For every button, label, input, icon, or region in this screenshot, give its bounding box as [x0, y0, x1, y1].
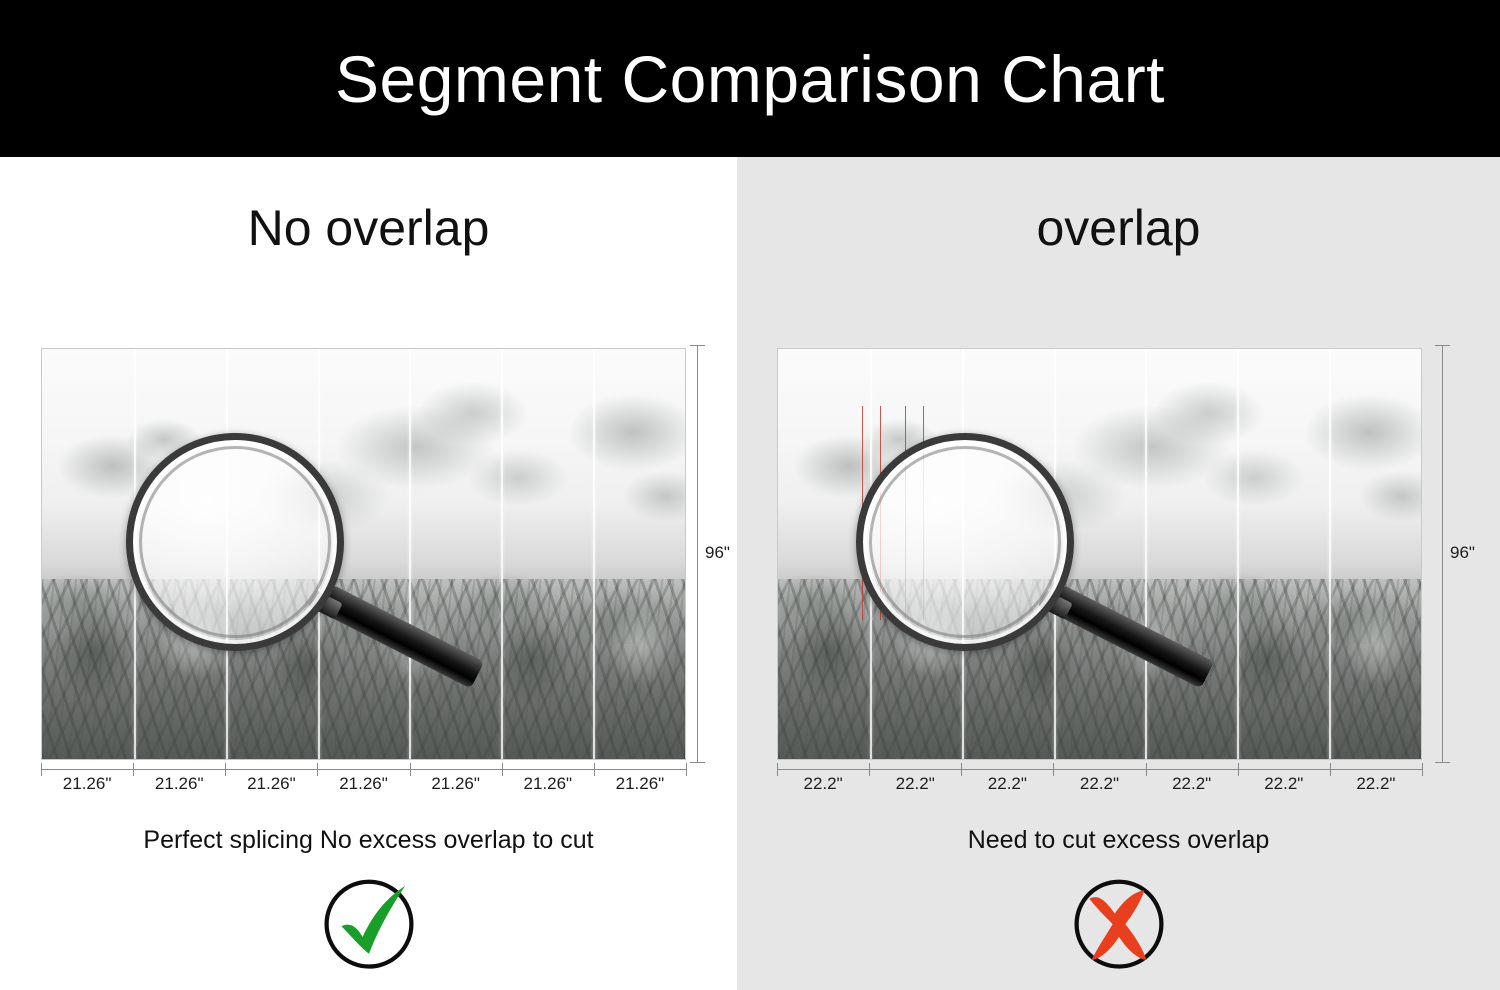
segment-label: 21.26" [410, 775, 502, 794]
seam-line [593, 349, 595, 759]
seam-line [501, 349, 503, 759]
segment-label: 21.26" [502, 775, 594, 794]
segment-label-row-right: 22.2" 22.2" 22.2" 22.2" 22.2" 22.2" 22.2… [777, 775, 1422, 794]
red-cross-icon [1066, 869, 1172, 975]
overlap-marker [862, 406, 863, 619]
panel-no-overlap: No overlap [0, 157, 737, 990]
overlap-marker [905, 406, 906, 619]
overlap-marker [880, 406, 881, 619]
panel-overlap: overlap [737, 157, 1500, 990]
mural-image-right [777, 348, 1422, 760]
segment-tick [1422, 763, 1423, 776]
mural-image-left [41, 348, 686, 760]
segment-dimension-line [41, 769, 686, 770]
height-dimension-cap-top [1435, 345, 1450, 346]
segment-label: 21.26" [225, 775, 317, 794]
mural-seam-lines-left [42, 349, 685, 759]
seam-line [226, 349, 228, 759]
segment-tick [686, 763, 687, 776]
segment-label: 21.26" [317, 775, 409, 794]
panel-heading-right: overlap [737, 203, 1500, 253]
segment-label-row-left: 21.26" 21.26" 21.26" 21.26" 21.26" 21.26… [41, 775, 686, 794]
header-banner: Segment Comparison Chart [0, 0, 1500, 157]
screenshot-root: Segment Comparison Chart No overlap [0, 0, 1500, 990]
overlap-marker-group-right [778, 349, 1421, 759]
height-dimension-line [1442, 345, 1443, 763]
seam-line [409, 349, 411, 759]
segment-label: 22.2" [1146, 775, 1238, 794]
segment-label: 22.2" [961, 775, 1053, 794]
segment-label: 22.2" [1238, 775, 1330, 794]
height-dimension-cap-bottom [1435, 762, 1450, 763]
height-dimension-label: 96" [705, 543, 730, 563]
segment-label: 22.2" [869, 775, 961, 794]
segment-label: 22.2" [777, 775, 869, 794]
segment-dimension-line [777, 769, 1422, 770]
page-title: Segment Comparison Chart [335, 46, 1165, 112]
segment-label: 21.26" [133, 775, 225, 794]
panel-heading-left: No overlap [0, 203, 737, 253]
caption-left: Perfect splicing No excess overlap to cu… [0, 825, 737, 855]
mural-figure-left: 96" 21.26" 21.26" 21.26" 21.26" 21.26" [41, 348, 686, 760]
seam-line [318, 349, 320, 759]
height-dimension-cap-bottom [690, 762, 705, 763]
height-dimension-cap-top [690, 345, 705, 346]
segment-label: 21.26" [41, 775, 133, 794]
mural-figure-right: 96" 22.2" 22.2" 22.2" 22.2" 22.2" [777, 348, 1422, 760]
segment-label: 22.2" [1330, 775, 1422, 794]
segment-label: 21.26" [594, 775, 686, 794]
seam-line [134, 349, 136, 759]
segment-label: 22.2" [1053, 775, 1145, 794]
overlap-marker [923, 406, 924, 619]
caption-right: Need to cut excess overlap [737, 825, 1500, 855]
green-check-icon [316, 869, 422, 975]
height-dimension-label: 96" [1450, 543, 1475, 563]
height-dimension-line [697, 345, 698, 763]
